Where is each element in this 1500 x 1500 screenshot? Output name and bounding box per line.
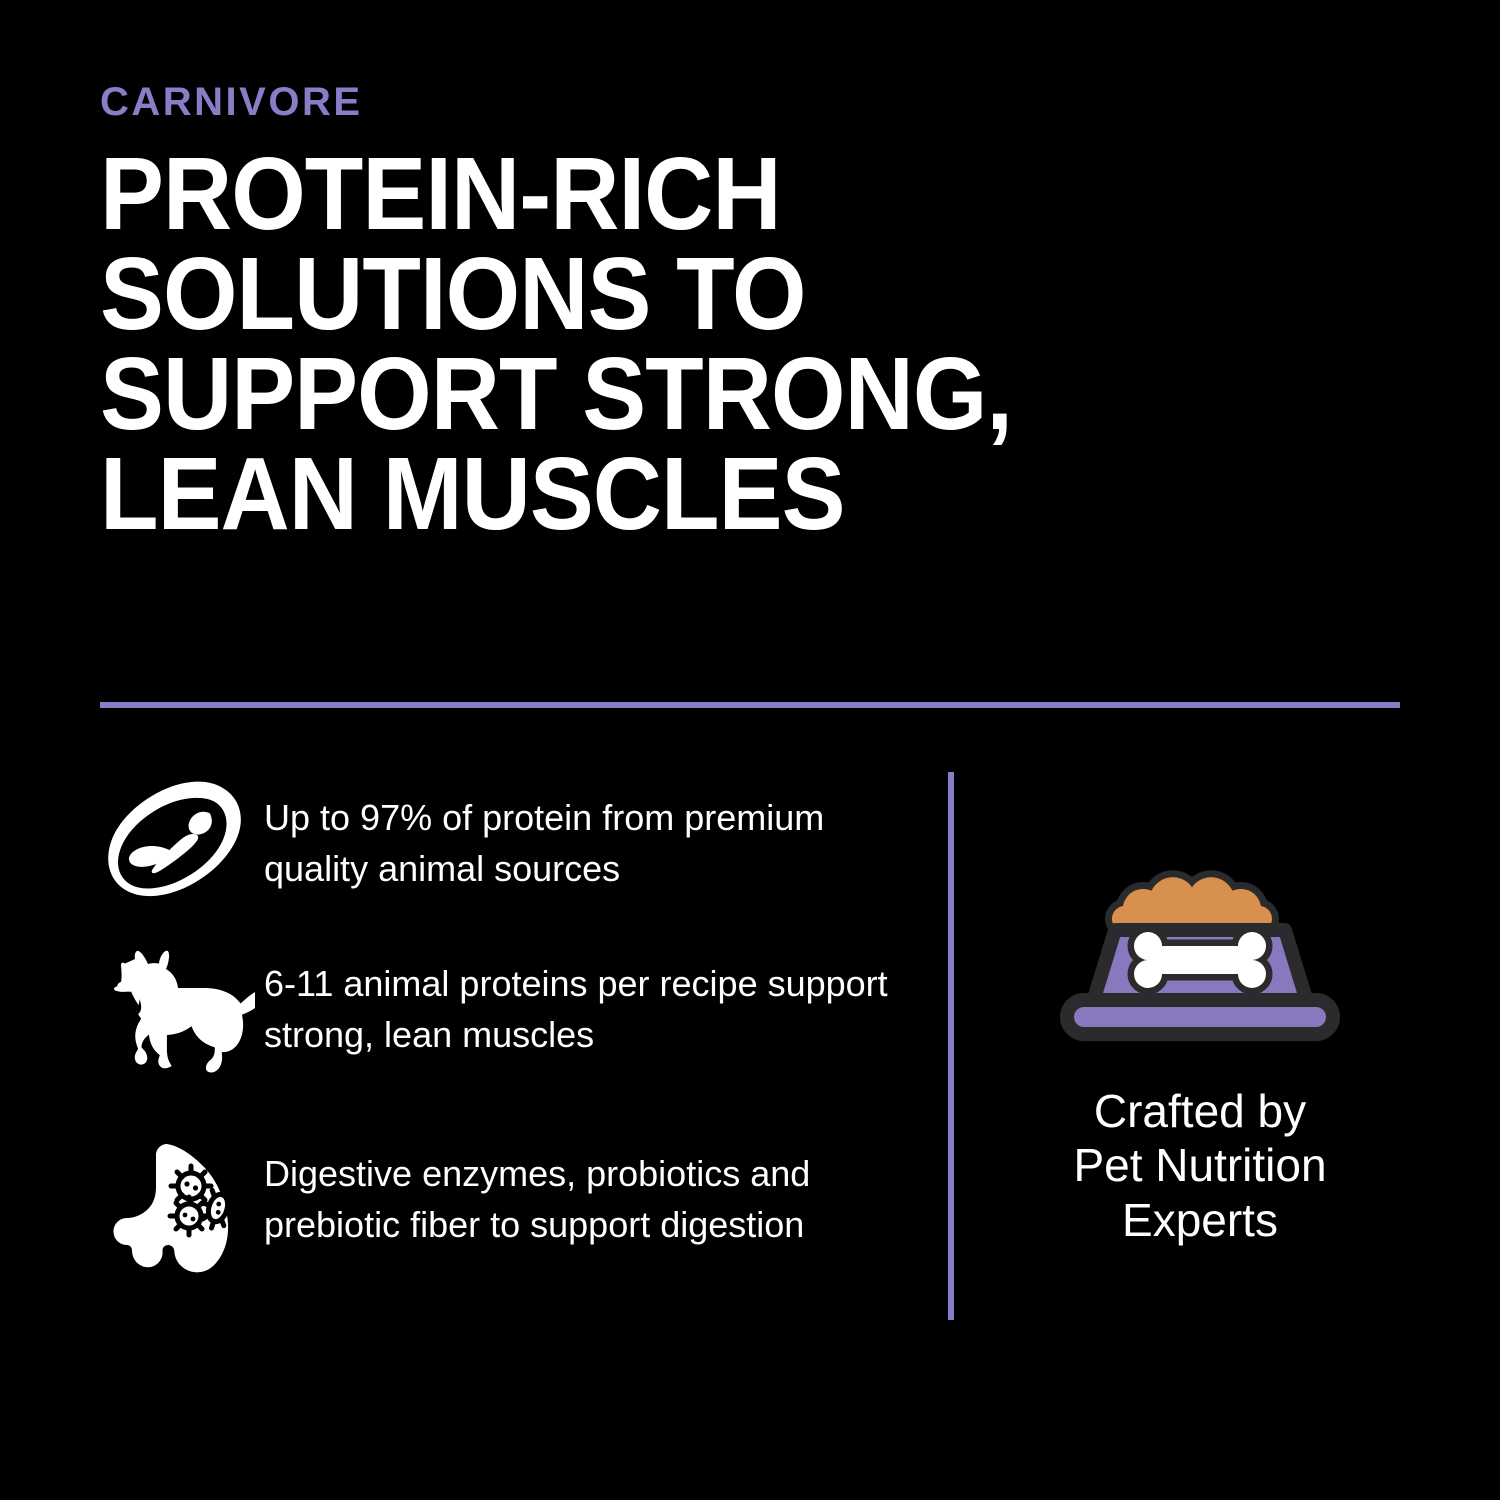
list-item: 6-11 animal proteins per recipe support … [96,944,906,1094]
feature-text: 6-11 animal proteins per recipe support … [264,944,906,1060]
feature-text: Up to 97% of protein from premium qualit… [264,778,906,894]
dog-food-bowl-icon [1053,830,1347,1050]
eyebrow-label: CARNIVORE [100,82,1420,122]
bowl-icon-wrap [980,830,1420,1050]
promo-panel: CARNIVORE PROTEIN-RICH SOLUTIONS TO SUPP… [0,0,1500,1500]
headline-line-4: LEAN MUSCLES [100,444,1328,544]
crafted-panel: Crafted by Pet Nutrition Experts [980,830,1420,1247]
headline-line-1: PROTEIN-RICH [100,144,1328,244]
list-item: Up to 97% of protein from premium qualit… [96,778,906,900]
crafted-caption: Crafted by Pet Nutrition Experts [980,1084,1420,1247]
dog-icon [96,944,264,1094]
list-item: Digestive enzymes, probiotics and prebio… [96,1134,906,1294]
horizontal-divider [100,702,1400,708]
stomach-probiotics-icon [96,1134,264,1294]
vertical-divider [948,772,954,1320]
feature-list: Up to 97% of protein from premium qualit… [96,778,906,1294]
feature-text: Digestive enzymes, probiotics and prebio… [264,1134,906,1250]
crafted-line-1: Crafted by [980,1084,1420,1138]
meat-cut-icon [96,778,264,900]
headline-line-2: SOLUTIONS TO [100,244,1328,344]
crafted-line-3: Experts [980,1193,1420,1247]
crafted-line-2: Pet Nutrition [980,1138,1420,1192]
header: CARNIVORE PROTEIN-RICH SOLUTIONS TO SUPP… [100,82,1420,544]
headline-line-3: SUPPORT STRONG, [100,344,1328,444]
page-title: PROTEIN-RICH SOLUTIONS TO SUPPORT STRONG… [100,144,1328,544]
